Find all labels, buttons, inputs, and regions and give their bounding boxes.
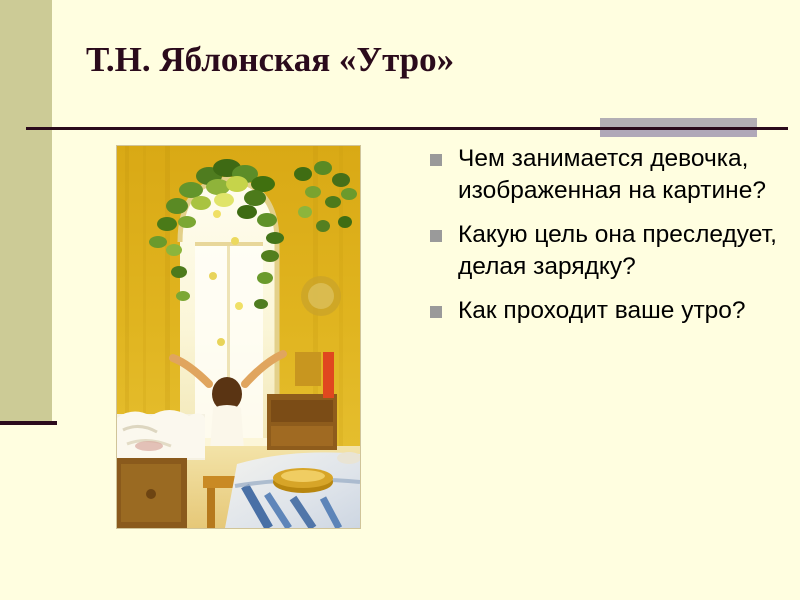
list-item-label: Чем занимается девочка, изображенная на … xyxy=(458,143,786,207)
question-list: Чем занимается девочка, изображенная на … xyxy=(430,143,786,339)
list-item-label: Как проходит ваше утро? xyxy=(458,295,786,327)
list-item: Чем занимается девочка, изображенная на … xyxy=(430,143,786,207)
left-accent-band xyxy=(0,0,52,422)
list-item: Как проходит ваше утро? xyxy=(430,295,786,327)
square-bullet-icon xyxy=(430,306,442,318)
square-bullet-icon xyxy=(430,230,442,242)
slide: Т.Н. Яблонская «Утро» xyxy=(0,0,800,600)
left-accent-rule xyxy=(0,421,57,425)
square-bullet-icon xyxy=(430,154,442,166)
header-divider xyxy=(26,127,788,130)
yablonskaya-morning-painting xyxy=(117,146,360,528)
page-title: Т.Н. Яблонская «Утро» xyxy=(86,40,786,80)
list-item: Какую цель она преследует, делая зарядку… xyxy=(430,219,786,283)
list-item-label: Какую цель она преследует, делая зарядку… xyxy=(458,219,786,283)
